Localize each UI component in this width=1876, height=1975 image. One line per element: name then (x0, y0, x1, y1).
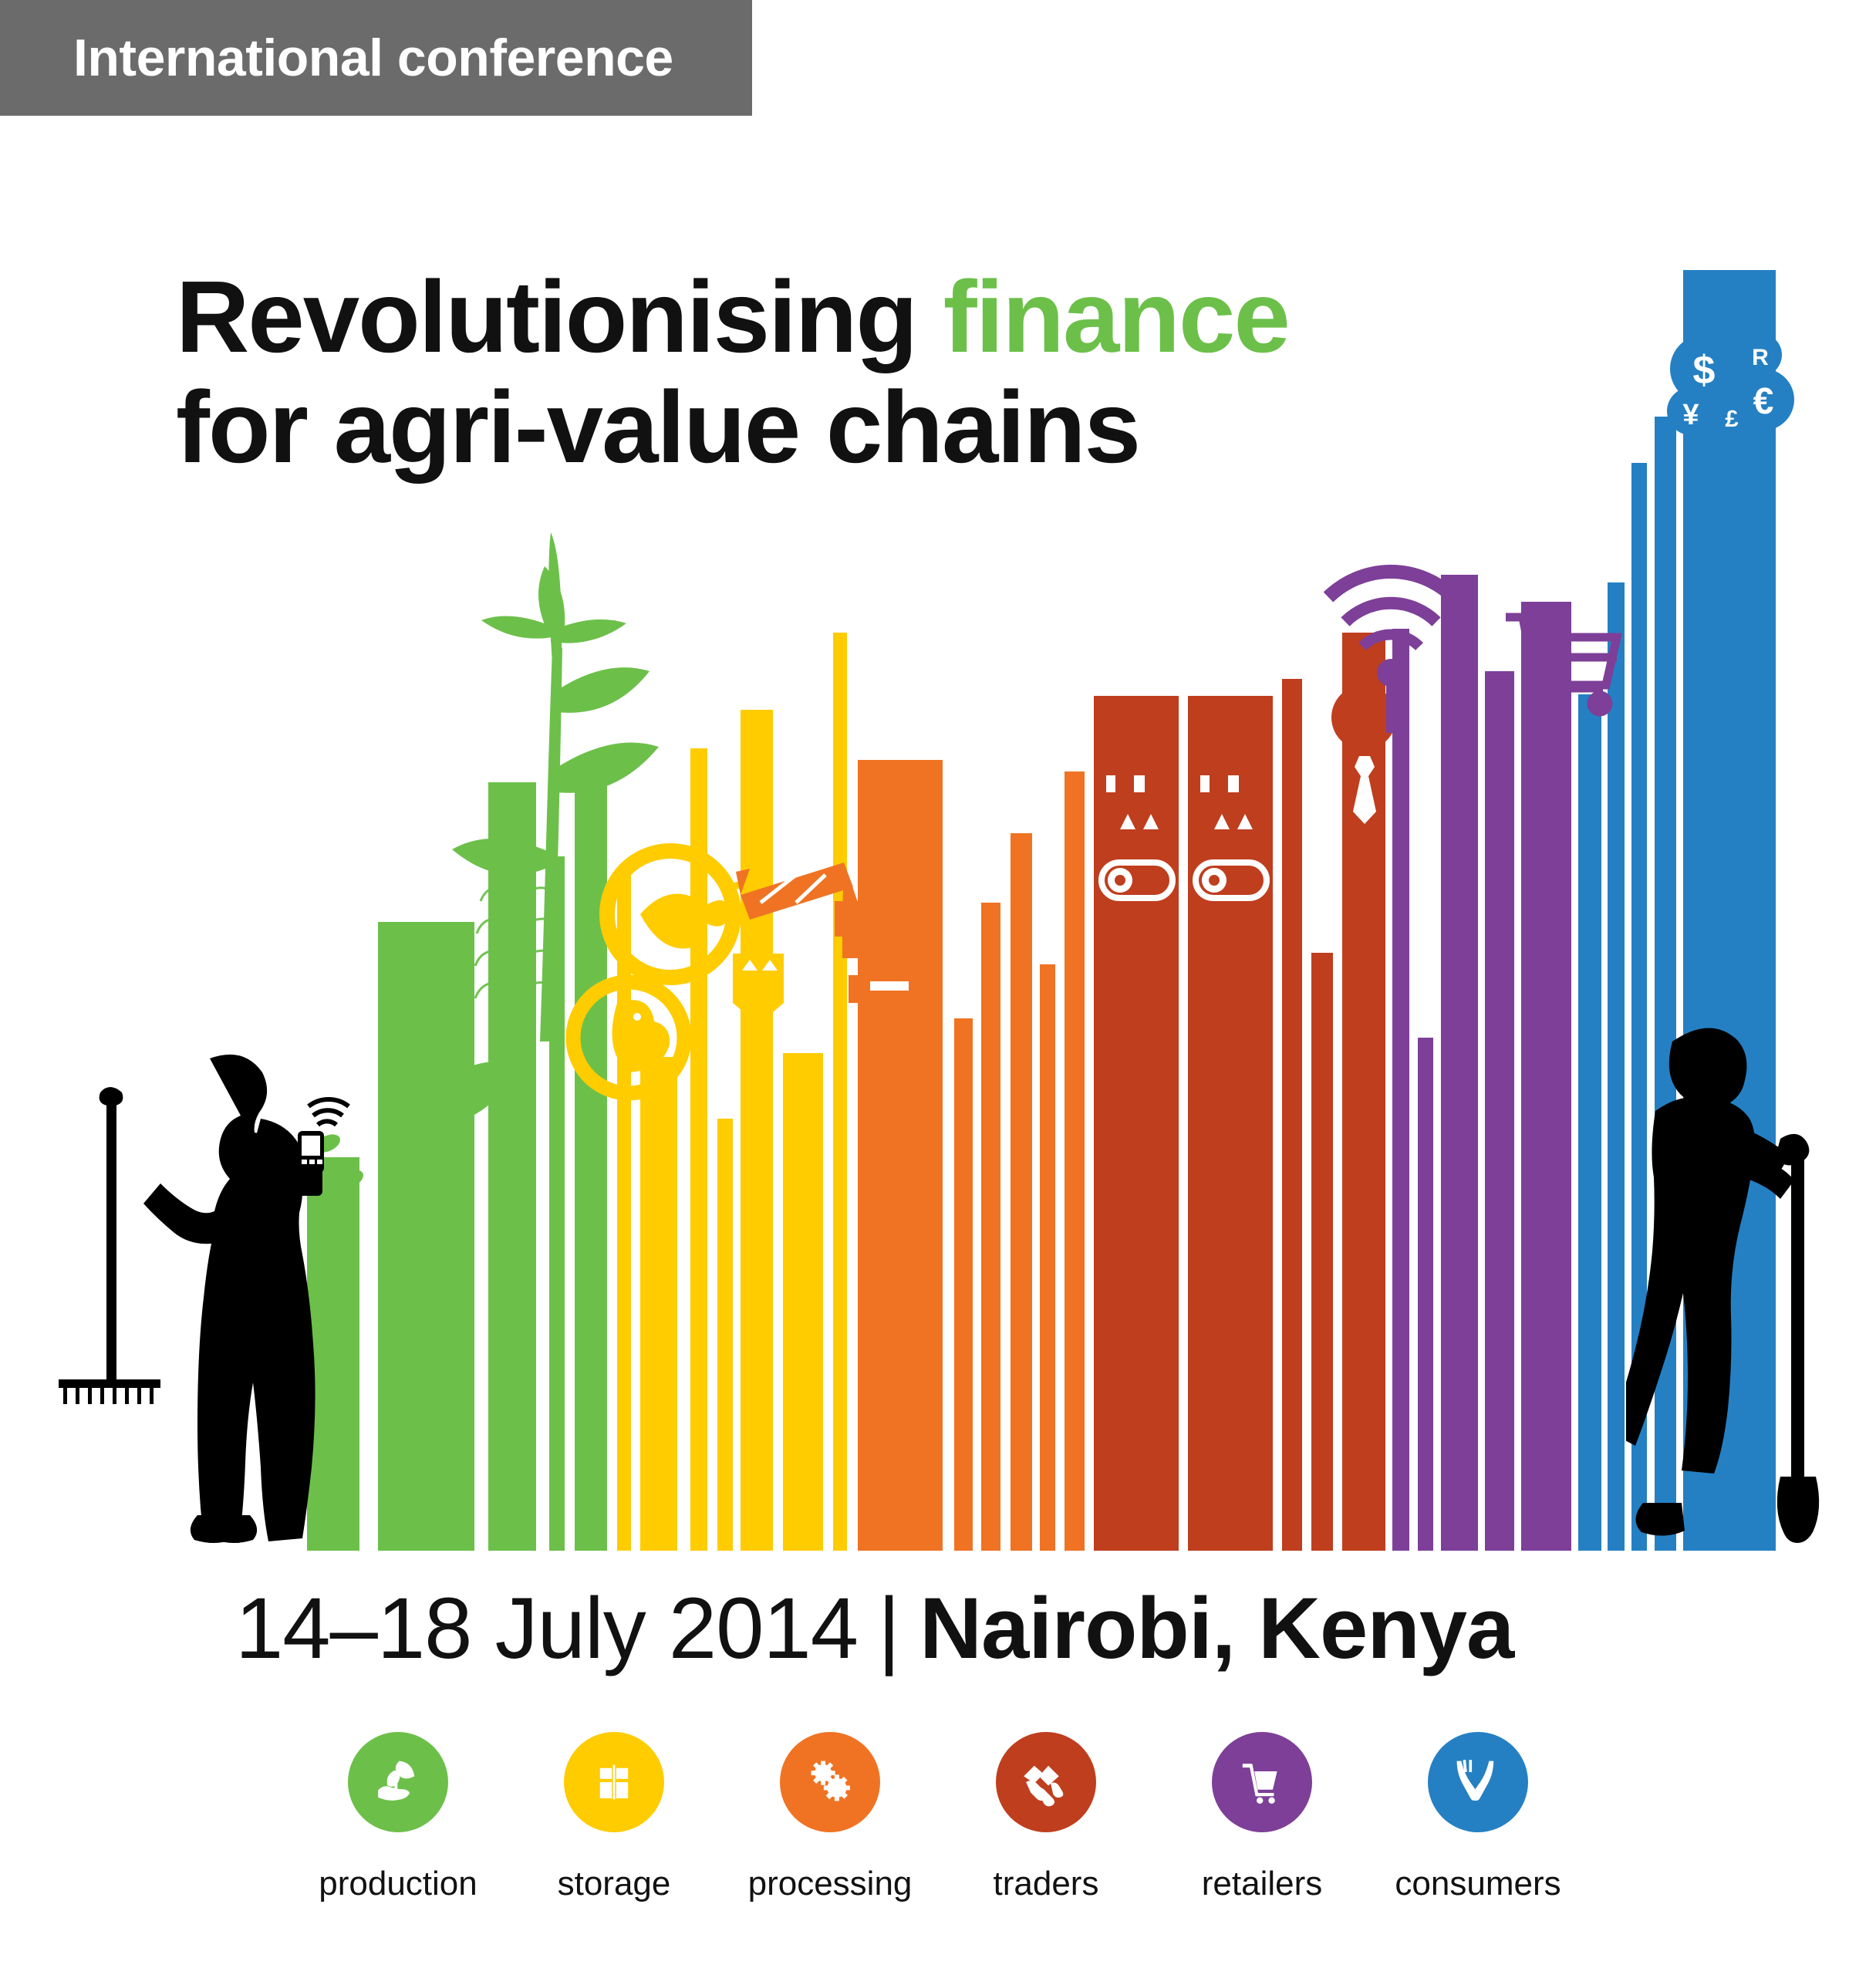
legend-label-processing: processing (748, 1865, 913, 1903)
chart-bar-retailers (1521, 602, 1571, 1551)
chart-bar-traders (1188, 696, 1273, 1551)
chart-bar-storage (690, 748, 707, 1551)
gears-icon (780, 1732, 880, 1832)
value-chain-legend: productionstorageprocessingtradersretail… (0, 1732, 1876, 1963)
chart-bar-processing (1011, 833, 1032, 1551)
legend-item-production[interactable]: production (290, 1732, 506, 1963)
chart-bar-storage (640, 1057, 677, 1551)
chart-bar-production (378, 922, 474, 1551)
chart-bar-storage (741, 710, 773, 1551)
chart-bar-processing (858, 760, 943, 1551)
chart-bar-production (549, 856, 565, 1551)
conference-poster: International conference Revolutionising… (0, 0, 1876, 1975)
legend-label-production: production (319, 1865, 477, 1903)
date-place-divider: | (858, 1580, 919, 1676)
chart-bar-retailers (1418, 1038, 1433, 1551)
chart-bar-storage (717, 1119, 733, 1551)
chart-bar-production (488, 782, 536, 1551)
chart-bar-retailers (1392, 629, 1409, 1551)
chart-bar-retailers (1485, 671, 1514, 1551)
chart-bar-traders (1311, 953, 1333, 1551)
legend-label-storage: storage (558, 1865, 671, 1903)
chart-bar-consumers (1608, 582, 1625, 1551)
chart-bar-consumers (1578, 694, 1601, 1551)
legend-item-processing[interactable]: processing (722, 1732, 938, 1963)
chart-bar-processing (981, 903, 1000, 1551)
chart-bar-production (575, 775, 607, 1551)
legend-label-retailers: retailers (1202, 1865, 1323, 1903)
chart-bar-processing (954, 1018, 973, 1551)
chart-bar-storage (783, 1053, 823, 1551)
chart-bar-traders (1282, 679, 1302, 1551)
chart-bar-storage (617, 872, 631, 1551)
box-icon (564, 1732, 664, 1832)
legend-item-traders[interactable]: traders (938, 1732, 1154, 1963)
shopping-cart-icon (1212, 1732, 1312, 1832)
chart-bar-traders (1094, 696, 1179, 1551)
chart-bar-processing (1065, 771, 1085, 1551)
legend-label-traders: traders (994, 1865, 1099, 1903)
conference-location: Nairobi, Kenya (919, 1580, 1513, 1676)
legend-item-retailers[interactable]: retailers (1154, 1732, 1370, 1963)
farmer-man-silhouette (1626, 1003, 1876, 1551)
fork-knife-icon (1428, 1732, 1528, 1832)
chart-bar-retailers (1441, 575, 1478, 1551)
chart-bar-storage (833, 633, 847, 1551)
hand-leaf-icon (348, 1732, 448, 1832)
handshake-icon (996, 1732, 1096, 1832)
chart-bar-processing (1040, 964, 1055, 1551)
legend-item-storage[interactable]: storage (506, 1732, 722, 1963)
chart-bar-traders (1342, 633, 1385, 1551)
conference-dates: 14–18 July 2014 (235, 1580, 858, 1676)
legend-item-consumers[interactable]: consumers (1370, 1732, 1586, 1963)
value-chain-bar-chart: $ R € ¥ £ (0, 0, 1876, 1551)
date-and-location: 14–18 July 2014|Nairobi, Kenya (235, 1585, 1513, 1672)
legend-label-consumers: consumers (1395, 1865, 1561, 1903)
farmer-woman-silhouette (46, 1026, 370, 1551)
